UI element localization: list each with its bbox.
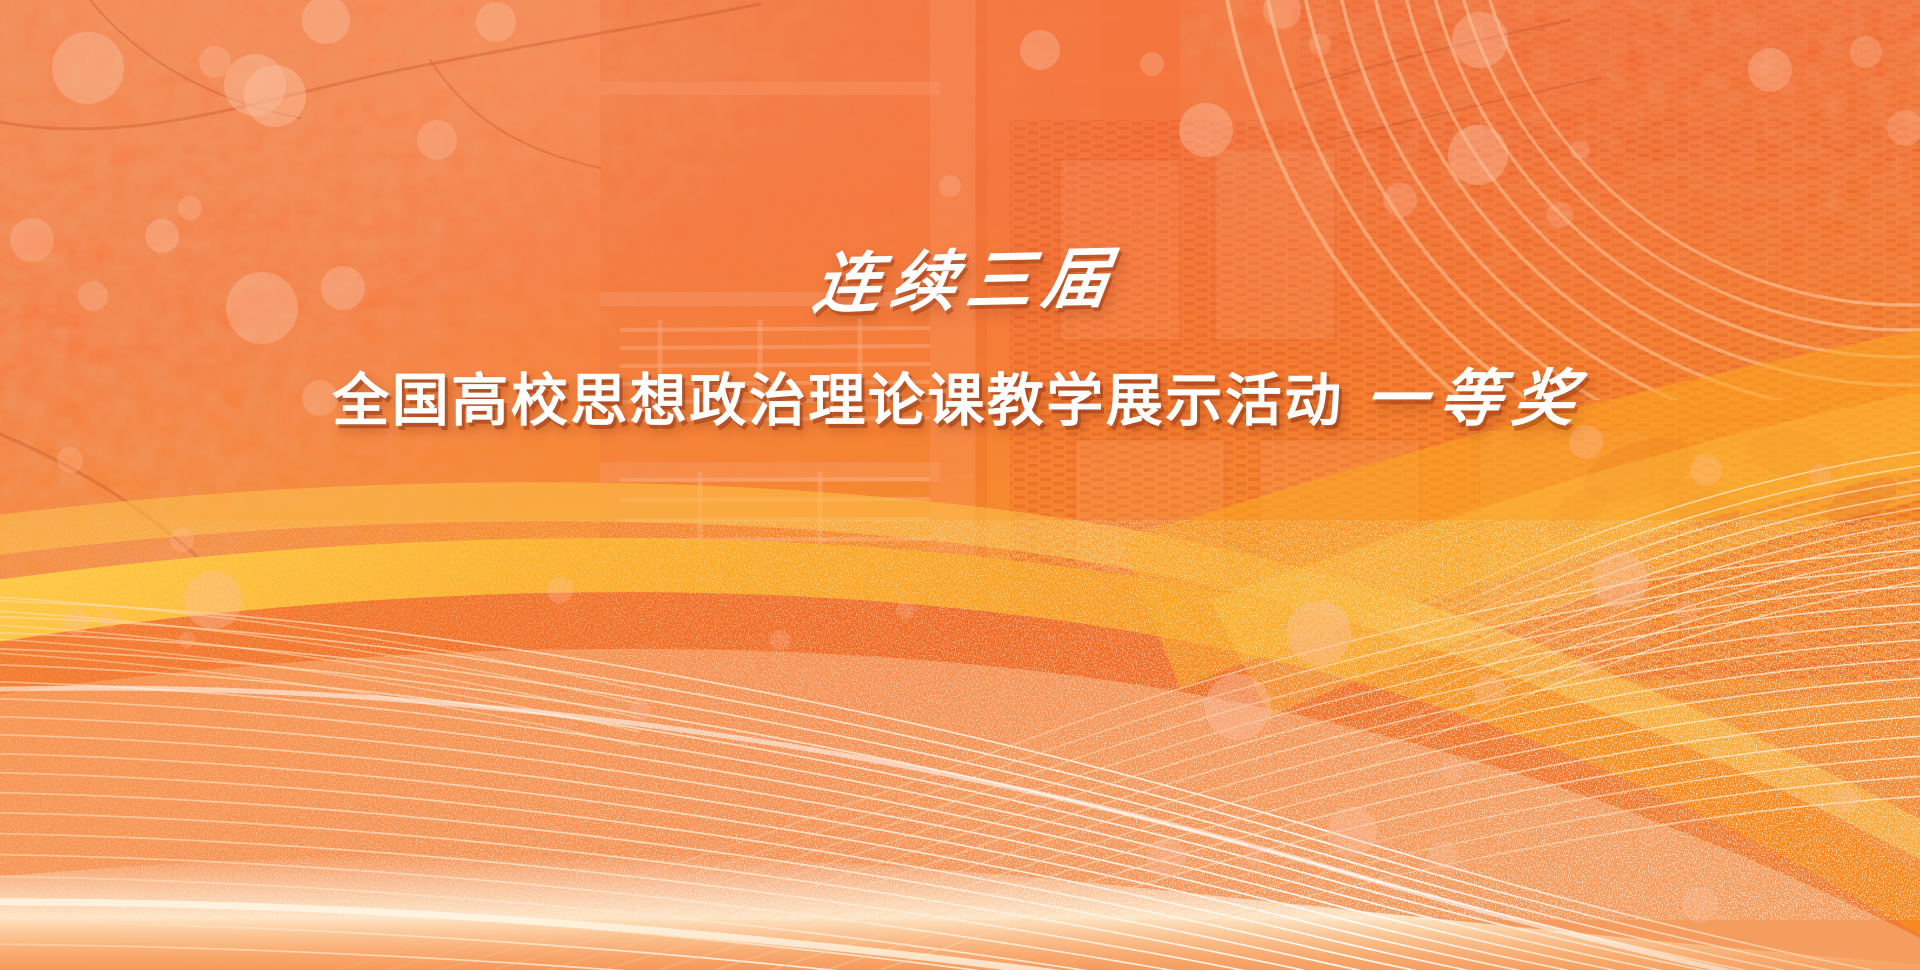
page-title: 全国高校思想政治理论课教学展示活动 [332, 355, 1344, 437]
bokeh-circle [1327, 807, 1377, 857]
bokeh-circle [178, 196, 202, 220]
award-badge: 一等奖 [1359, 348, 1594, 438]
bokeh-circle [1774, 627, 1792, 645]
bokeh-circle [1887, 110, 1920, 146]
bokeh-circle [1179, 103, 1233, 157]
bokeh-circle [1429, 841, 1459, 871]
bokeh-circle [1287, 601, 1351, 665]
bokeh-circle [1452, 12, 1508, 68]
bokeh-circle [1682, 887, 1718, 923]
line-mesh-flow [0, 0, 1920, 970]
bokeh-circle [199, 46, 231, 78]
bokeh-circle [1243, 844, 1265, 866]
bokeh-circle [1020, 30, 1060, 70]
main-title-row: 全国高校思想政治理论课教学展示活动 一等奖 [0, 348, 1920, 438]
bokeh-circle [1570, 140, 1590, 160]
bokeh-circle [1547, 202, 1573, 228]
bokeh-circle [63, 609, 89, 635]
bokeh-circles [0, 0, 1920, 970]
bokeh-circle [184, 571, 242, 629]
bokeh-circle [179, 632, 195, 648]
bokeh-circle [1832, 787, 1858, 813]
banner-image: 连续三届 全国高校思想政治理论课教学展示活动 一等奖 [0, 0, 1920, 970]
bokeh-circle [1309, 33, 1331, 55]
bokeh-circle [1577, 656, 1597, 676]
calligraphy-subtitle: 连续三届 [796, 245, 1124, 318]
bokeh-circle [1146, 838, 1186, 878]
bokeh-circle [52, 32, 124, 104]
bokeh-circle [57, 447, 83, 473]
bokeh-circle [770, 630, 790, 650]
bokeh-circle [547, 577, 573, 603]
wave-ribbons [0, 0, 1920, 970]
bokeh-circle [1140, 52, 1164, 76]
bokeh-circle [99, 611, 117, 629]
autumn-foliage-texture [0, 0, 1920, 970]
bokeh-circle [896, 601, 914, 619]
bokeh-circle [476, 2, 516, 42]
bokeh-circle [1383, 183, 1417, 217]
banner-title-block: 连续三届 全国高校思想政治理论课教学展示活动 一等奖 [0, 248, 1920, 438]
bokeh-circle [170, 528, 194, 552]
bokeh-circle [1850, 36, 1882, 68]
bokeh-circle [1440, 758, 1464, 782]
bokeh-circle [1205, 674, 1271, 740]
concentric-arcs [0, 0, 1920, 970]
bokeh-circle [1263, 0, 1301, 29]
bokeh-circle [302, 0, 350, 44]
bokeh-circle [1592, 552, 1648, 608]
sparkle-dust [0, 0, 1920, 970]
bokeh-circle [1809, 464, 1831, 486]
bokeh-circle [939, 175, 961, 197]
bokeh-circle [417, 120, 457, 160]
bokeh-circle [1748, 48, 1792, 92]
bokeh-circle [224, 54, 286, 116]
bokeh-circle [1474, 674, 1506, 706]
brick-building-facade [0, 0, 1920, 970]
bokeh-circle [1690, 454, 1722, 486]
bokeh-circle [1675, 601, 1697, 623]
bokeh-circle [244, 65, 306, 127]
bokeh-circle [1448, 125, 1508, 185]
bokeh-circle [630, 700, 650, 720]
background-base-gradient [0, 0, 1920, 970]
